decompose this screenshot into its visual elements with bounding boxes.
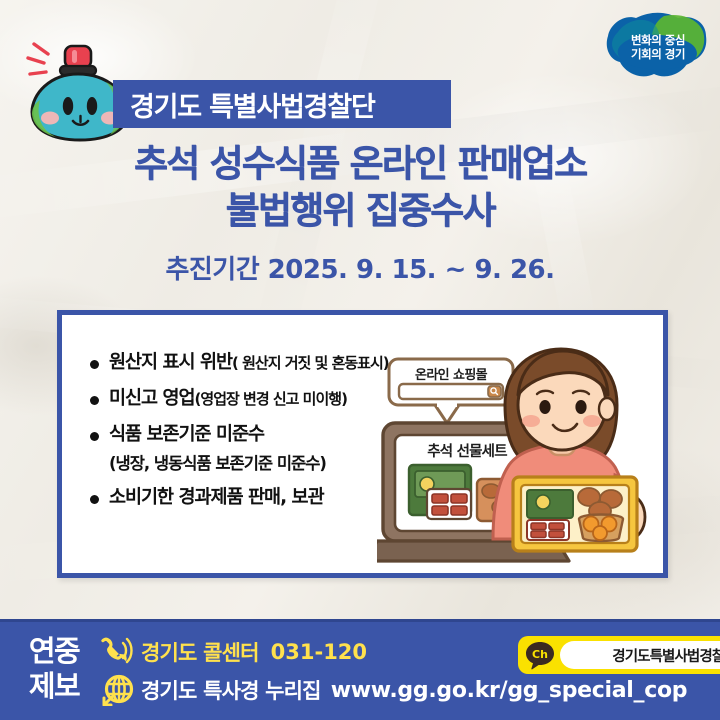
illustration-svg: 온라인 쇼핑몰 [377,339,657,569]
gift-set-box [513,477,637,551]
shopping-illustration: 온라인 쇼핑몰 [377,339,657,569]
callcenter-label: 경기도 콜센터 [141,637,259,667]
woman-eye-right [575,400,586,414]
list-item-main: 미신고 영업 [109,388,195,409]
website-label: 경기도 특사경 누리집 [141,675,321,705]
list-item-sub: (영업장 변경 신고 미이행) [195,390,347,408]
report-badge-line2: 제보 [14,669,94,704]
globe-icon [100,674,134,706]
gyeonggi-bi-logo: 변화의 중심 기회의 경기 [606,12,710,82]
report-badge-line1: 연중 [14,634,94,669]
mascot-cheek-left [41,112,59,125]
siren-lamp [65,46,91,68]
list-item-sub: ( 원산지 거짓 및 혼동표시) [232,354,389,372]
report-badge: 연중 제보 [14,634,94,705]
bullet-dot-icon [90,360,99,369]
kakao-channel-name: 경기도특별사법경찰단 [612,645,720,666]
siren-motion-lines [28,44,48,74]
bullet-dot-icon [90,495,99,504]
title-line-1: 추석 성수식품 온라인 판매업소 [0,140,720,187]
title-line-2: 불법행위 집중수사 [0,187,720,234]
list-item-main: 식품 보존기준 미준수 [109,424,264,445]
list-item-main: 원산지 표시 위반 [109,352,232,373]
callcenter-number: 031-120 [271,640,367,664]
poster-root: 변화의 중심 기회의 경기 [0,0,720,720]
kakao-channel-button[interactable]: Ch 경기도특별사법경찰단 + [518,636,720,674]
list-item-text: 소비기한 경과제품 판매, 보관 [109,486,324,510]
kakao-channel-pill[interactable]: 경기도특별사법경찰단 + [560,641,720,669]
campaign-period: 추진기간 2025. 9. 15. ~ 9. 26. [0,249,720,286]
department-banner: 경기도 특별사법경찰단 [113,80,451,128]
footer-row-website: 경기도 특사경 누리집 www.gg.go.kr/gg_special_cop [100,672,710,708]
kakao-badge-text: Ch [532,648,548,661]
phone-icon [100,636,134,668]
bi-logo-line2: 기회의 경기 [631,48,685,61]
list-item-text: 식품 보존기준 미준수 [109,423,326,447]
search-tooltip-label: 온라인 쇼핑몰 [415,367,488,383]
bullet-dot-icon [90,432,99,441]
department-banner-label: 경기도 특별사법경찰단 [130,85,375,124]
laptop-screen-label: 추석 선물세트 [427,442,507,460]
list-item-text: 미신고 영업(영업장 변경 신고 미이행) [109,387,347,411]
kakao-ch-icon: Ch [525,640,555,670]
list-item-second-line: (냉장, 냉동식품 보존기준 미준수) [109,450,326,474]
mascot-eye-left [63,97,73,115]
mascot-eye-right [87,97,97,115]
title-block: 추석 성수식품 온라인 판매업소 불법행위 집중수사 추진기간 2025. 9.… [0,140,720,286]
footer-row-callcenter: 경기도 콜센터 031-120 Ch 경기도특별사법경찰단 + [100,634,710,670]
bullet-dot-icon [90,396,99,405]
woman-eye-left [539,400,550,414]
list-item-text: 원산지 표시 위반( 원산지 거짓 및 혼동표시) [109,351,389,375]
footer-bar: 연중 제보 경기도 콜센터 031-120 [0,619,720,720]
bi-logo-line1: 변화의 중심 [631,34,685,47]
content-box: 원산지 표시 위반( 원산지 거짓 및 혼동표시) 미신고 영업(영업장 변경 … [57,310,668,578]
bi-logo-text: 변화의 중심 기회의 경기 [606,12,710,82]
footer-contact-rows: 경기도 콜센터 031-120 Ch 경기도특별사법경찰단 + [100,634,710,710]
website-url[interactable]: www.gg.go.kr/gg_special_cop [331,678,688,703]
list-item-main: 소비기한 경과제품 판매, 보관 [109,487,324,508]
